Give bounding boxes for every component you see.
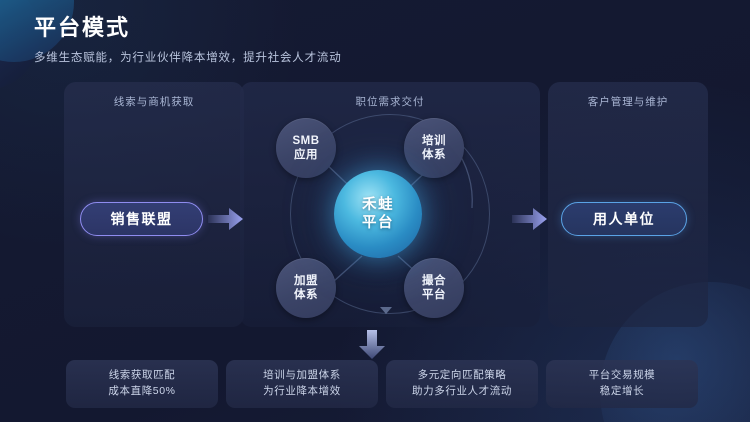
card-matching-strategy: 多元定向匹配策略 助力多行业人才流动 [386,360,538,408]
orbit-diagram: SMB 应用 培训 体系 加盟 体系 撮合 平台 禾蛙 平台 [258,100,523,330]
node-training-line2: 体系 [422,148,446,162]
node-franchise-line2: 体系 [294,288,318,302]
node-matching-platform[interactable]: 撮合 平台 [404,258,464,318]
node-smb-application[interactable]: SMB 应用 [276,118,336,178]
card-1-line2: 成本直降50% [108,384,175,400]
pill-employer-label: 用人单位 [593,209,655,229]
node-matching-line1: 撮合 [422,274,446,288]
card-lead-matching: 线索获取匹配 成本直降50% [66,360,218,408]
pill-employer[interactable]: 用人单位 [561,202,687,236]
pill-sales-alliance-label: 销售联盟 [111,209,173,229]
pill-sales-alliance[interactable]: 销售联盟 [80,202,203,236]
center-line1: 禾蛙 [362,196,394,214]
node-smb-line2: 应用 [294,148,318,162]
card-2-line2: 为行业降本增效 [263,384,341,400]
node-franchise-system[interactable]: 加盟 体系 [276,258,336,318]
node-franchise-line1: 加盟 [294,274,318,288]
node-matching-line2: 平台 [422,288,446,302]
page-title: 平台模式 [34,16,342,40]
panel-label-customer-management: 客户管理与维护 [548,94,708,109]
page-subtitle: 多维生态赋能，为行业伙伴降本增效，提升社会人才流动 [34,49,342,65]
card-3-line2: 助力多行业人才流动 [412,384,512,400]
card-4-line1: 平台交易规模 [589,368,656,384]
card-1-line1: 线索获取匹配 [109,368,176,384]
node-smb-line1: SMB [292,134,319,148]
node-center-platform[interactable]: 禾蛙 平台 [334,170,422,258]
card-transaction-scale: 平台交易规模 稳定增长 [546,360,698,408]
card-3-line1: 多元定向匹配策略 [418,368,507,384]
panel-label-lead-acquisition: 线索与商机获取 [64,94,244,109]
node-training-line1: 培训 [422,134,446,148]
slide-canvas: 平台模式 多维生态赋能，为行业伙伴降本增效，提升社会人才流动 线索与商机获取 职… [0,0,750,422]
header: 平台模式 多维生态赋能，为行业伙伴降本增效，提升社会人才流动 [34,16,342,65]
arrow-right-icon-left [208,206,244,237]
node-training-system[interactable]: 培训 体系 [404,118,464,178]
center-line2: 平台 [362,214,394,232]
card-training-franchise: 培训与加盟体系 为行业降本增效 [226,360,378,408]
card-2-line1: 培训与加盟体系 [263,368,341,384]
card-4-line2: 稳定增长 [600,384,644,400]
